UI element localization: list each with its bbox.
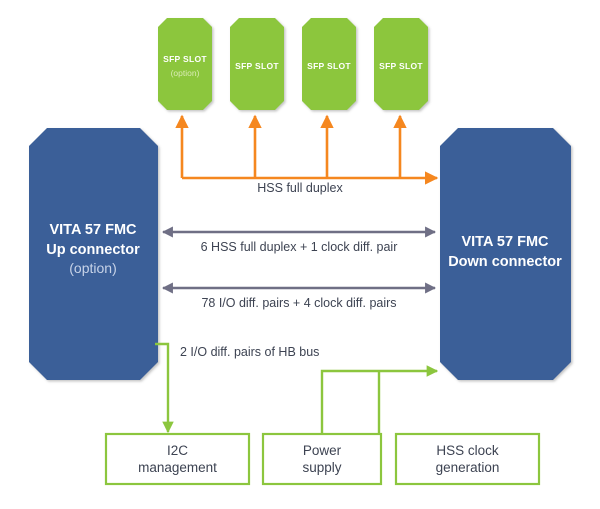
sfp-slot-3-label: SFP SLOT [307,61,351,71]
bottom-block-i2c-line2: management [138,460,217,475]
sfp-slot-1[interactable]: SFP SLOT (option) [158,18,212,110]
bottom-block-hss-clock-line2: generation [436,460,500,475]
sfp-slot-4[interactable]: SFP SLOT [374,18,428,110]
power-clock-feed [322,371,437,434]
sfp-slot-group: SFP SLOT (option) SFP SLOT SFP SLOT SFP … [158,18,428,110]
hss-full-duplex-label: HSS full duplex [257,181,343,195]
block-diagram: SFP SLOT (option) SFP SLOT SFP SLOT SFP … [0,0,600,509]
connector-up[interactable]: VITA 57 FMC Up connector (option) [29,128,158,380]
sfp-slot-2-label: SFP SLOT [235,61,279,71]
sfp-slot-1-label: SFP SLOT [163,54,207,64]
connector-up-line2: Up connector [46,242,140,258]
connector-up-line1: VITA 57 FMC [49,222,137,238]
hb-bus-label: 2 I/O diff. pairs of HB bus [180,345,319,359]
hss-full-duplex-bus: HSS full duplex [182,116,437,195]
diagram-canvas: SFP SLOT (option) SFP SLOT SFP SLOT SFP … [0,0,600,509]
sfp-slot-2[interactable]: SFP SLOT [230,18,284,110]
io-78-pairs-label: 78 I/O diff. pairs + 4 clock diff. pairs [201,296,396,310]
io-78-pairs-bus: 78 I/O diff. pairs + 4 clock diff. pairs [163,288,435,310]
sfp-slot-4-label: SFP SLOT [379,61,423,71]
connector-down-line1: VITA 57 FMC [461,234,549,250]
bottom-block-power[interactable]: Power supply [263,434,381,484]
hss-6-duplex-bus: 6 HSS full duplex + 1 clock diff. pair [163,232,435,254]
connector-down[interactable]: VITA 57 FMC Down connector [440,128,571,380]
bottom-block-hss-clock[interactable]: HSS clock generation [396,434,539,484]
hb-bus: 2 I/O diff. pairs of HB bus [155,344,319,432]
hss-6-duplex-label: 6 HSS full duplex + 1 clock diff. pair [201,240,398,254]
connector-up-line3: (option) [69,260,116,276]
bottom-block-i2c[interactable]: I2C management [106,434,249,484]
sfp-slot-3[interactable]: SFP SLOT [302,18,356,110]
bottom-block-power-line1: Power [303,443,342,458]
bottom-block-power-line2: supply [302,460,341,475]
bottom-block-hss-clock-line1: HSS clock [436,443,499,458]
connector-down-line2: Down connector [448,254,562,270]
bottom-block-i2c-line1: I2C [167,443,188,458]
sfp-slot-1-sublabel: (option) [171,68,200,78]
